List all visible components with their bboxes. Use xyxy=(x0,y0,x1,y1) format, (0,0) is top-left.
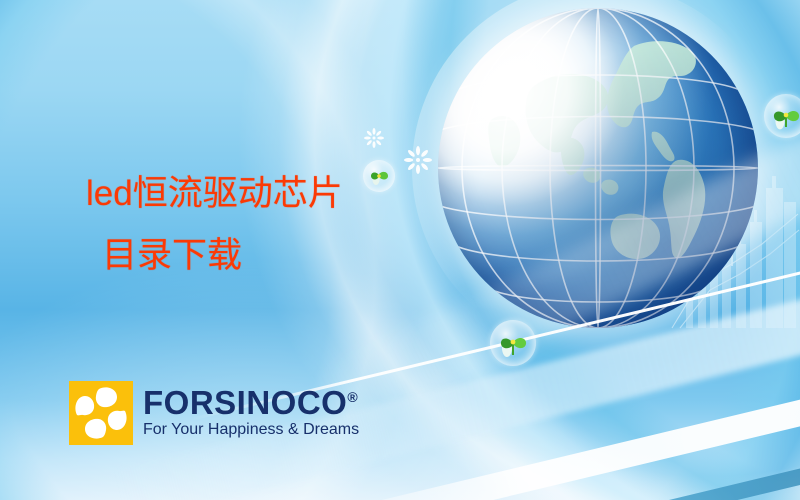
company-logo: FORSINOCO® For Your Happiness & Dreams xyxy=(69,381,359,445)
headline-line-2: 目录下载 xyxy=(86,225,506,287)
headline: led恒流驱动芯片 目录下载 xyxy=(86,163,506,287)
bubble-sprite-right xyxy=(764,94,800,138)
green-leaf-right-icon xyxy=(764,94,800,138)
headline-line-1: led恒流驱动芯片 xyxy=(86,163,506,225)
flower-sprite-small-icon xyxy=(364,128,384,148)
logo-tagline: For Your Happiness & Dreams xyxy=(143,421,359,439)
bubble-sprite-bottom xyxy=(490,320,536,366)
green-sprout-icon xyxy=(490,320,536,366)
promotional-banner: led恒流驱动芯片 目录下载 FORSINOCO® For Your Happi… xyxy=(0,0,800,500)
logo-pinwheel-icon xyxy=(69,381,133,445)
logo-text-block: FORSINOCO® For Your Happiness & Dreams xyxy=(143,386,359,439)
logo-wordmark: FORSINOCO® xyxy=(143,386,359,420)
ribbon-white-broad xyxy=(297,343,800,500)
pinwheel-petals-icon xyxy=(69,381,133,445)
registered-trademark-icon: ® xyxy=(347,389,358,405)
ribbon-blue-dark xyxy=(418,397,800,500)
logo-wordmark-text: FORSINOCO xyxy=(143,384,347,421)
